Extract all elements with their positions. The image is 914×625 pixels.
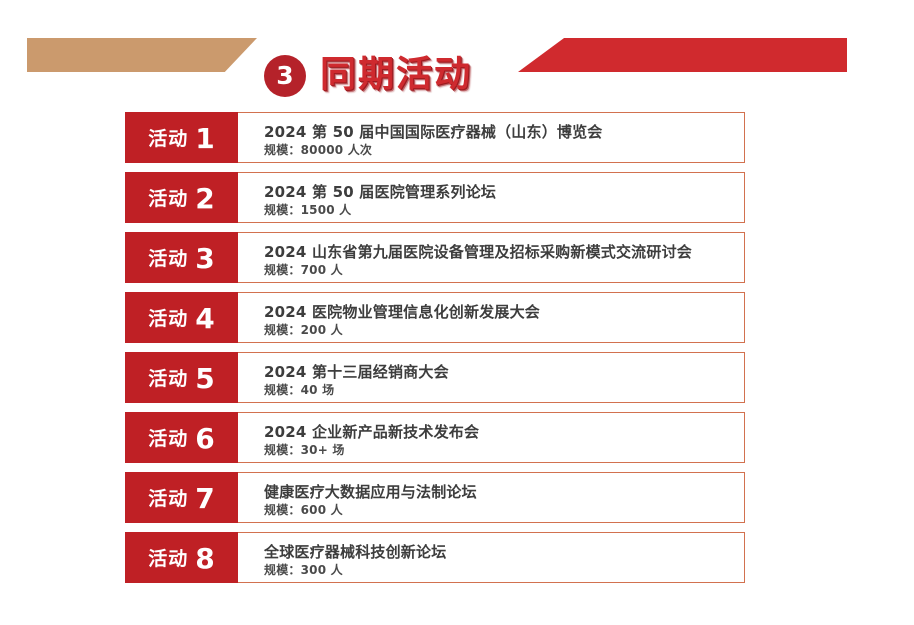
activity-number-badge: 活动8 — [125, 532, 238, 583]
activity-title: 2024 第 50 届医院管理系列论坛 — [264, 182, 744, 202]
activity-title: 健康医疗大数据应用与法制论坛 — [264, 482, 744, 502]
activity-title: 2024 第十三届经销商大会 — [264, 362, 744, 382]
activity-row[interactable]: 活动22024 第 50 届医院管理系列论坛规模：1500 人 — [125, 172, 745, 223]
activity-row[interactable]: 活动62024 企业新产品新技术发布会规模：30+ 场 — [125, 412, 745, 463]
activity-badge-number: 8 — [195, 545, 214, 573]
activity-content: 2024 企业新产品新技术发布会规模：30+ 场 — [238, 412, 745, 463]
activity-badge-label: 活动 — [148, 304, 188, 331]
activity-row[interactable]: 活动8全球医疗器械科技创新论坛规模：300 人 — [125, 532, 745, 583]
activity-badge-number: 4 — [195, 305, 214, 333]
page-title: 同期活动 — [320, 50, 472, 100]
activity-scale: 规模：200 人 — [264, 322, 744, 339]
activity-badge-label: 活动 — [148, 244, 188, 271]
activity-list: 活动12024 第 50 届中国国际医疗器械（山东）博览会规模：80000 人次… — [125, 112, 745, 592]
activity-title: 2024 企业新产品新技术发布会 — [264, 422, 744, 442]
activity-row[interactable]: 活动12024 第 50 届中国国际医疗器械（山东）博览会规模：80000 人次 — [125, 112, 745, 163]
activity-badge-label: 活动 — [148, 544, 188, 571]
activity-number-badge: 活动6 — [125, 412, 238, 463]
activity-badge-label: 活动 — [148, 124, 188, 151]
activity-row[interactable]: 活动42024 医院物业管理信息化创新发展大会规模：200 人 — [125, 292, 745, 343]
activity-number-badge: 活动5 — [125, 352, 238, 403]
activity-badge-label: 活动 — [148, 484, 188, 511]
activity-number-badge: 活动4 — [125, 292, 238, 343]
section-number-badge: 3 — [264, 55, 306, 97]
activity-number-badge: 活动2 — [125, 172, 238, 223]
activity-scale: 规模：30+ 场 — [264, 442, 744, 459]
header-decoration-bar-right — [518, 38, 847, 72]
activity-title: 全球医疗器械科技创新论坛 — [264, 542, 744, 562]
activity-badge-label: 活动 — [148, 184, 188, 211]
activity-badge-number: 5 — [195, 365, 214, 393]
activity-scale: 规模：600 人 — [264, 502, 744, 519]
activity-row[interactable]: 活动32024 山东省第九届医院设备管理及招标采购新模式交流研讨会规模：700 … — [125, 232, 745, 283]
activity-content: 2024 医院物业管理信息化创新发展大会规模：200 人 — [238, 292, 745, 343]
activity-scale: 规模：1500 人 — [264, 202, 744, 219]
activity-badge-number: 7 — [195, 485, 214, 513]
activity-content: 2024 第 50 届中国国际医疗器械（山东）博览会规模：80000 人次 — [238, 112, 745, 163]
activity-badge-number: 3 — [195, 245, 214, 273]
activity-content: 2024 第十三届经销商大会规模：40 场 — [238, 352, 745, 403]
activity-content: 全球医疗器械科技创新论坛规模：300 人 — [238, 532, 745, 583]
activity-row[interactable]: 活动52024 第十三届经销商大会规模：40 场 — [125, 352, 745, 403]
header-decoration-bar-left — [27, 38, 257, 72]
activity-title: 2024 山东省第九届医院设备管理及招标采购新模式交流研讨会 — [264, 242, 744, 262]
activity-row[interactable]: 活动7健康医疗大数据应用与法制论坛规模：600 人 — [125, 472, 745, 523]
activity-scale: 规模：700 人 — [264, 262, 744, 279]
activity-title: 2024 第 50 届中国国际医疗器械（山东）博览会 — [264, 122, 744, 142]
activity-number-badge: 活动3 — [125, 232, 238, 283]
activity-badge-number: 1 — [195, 125, 214, 153]
activity-number-badge: 活动7 — [125, 472, 238, 523]
activity-number-badge: 活动1 — [125, 112, 238, 163]
activity-badge-label: 活动 — [148, 364, 188, 391]
activity-title: 2024 医院物业管理信息化创新发展大会 — [264, 302, 744, 322]
activity-scale: 规模：80000 人次 — [264, 142, 744, 159]
activity-badge-label: 活动 — [148, 424, 188, 451]
activity-scale: 规模：300 人 — [264, 562, 744, 579]
activity-content: 健康医疗大数据应用与法制论坛规模：600 人 — [238, 472, 745, 523]
activity-badge-number: 2 — [195, 185, 214, 213]
activity-badge-number: 6 — [195, 425, 214, 453]
activity-content: 2024 山东省第九届医院设备管理及招标采购新模式交流研讨会规模：700 人 — [238, 232, 745, 283]
section-header: 3 同期活动 — [0, 30, 914, 82]
activity-scale: 规模：40 场 — [264, 382, 744, 399]
activity-content: 2024 第 50 届医院管理系列论坛规模：1500 人 — [238, 172, 745, 223]
